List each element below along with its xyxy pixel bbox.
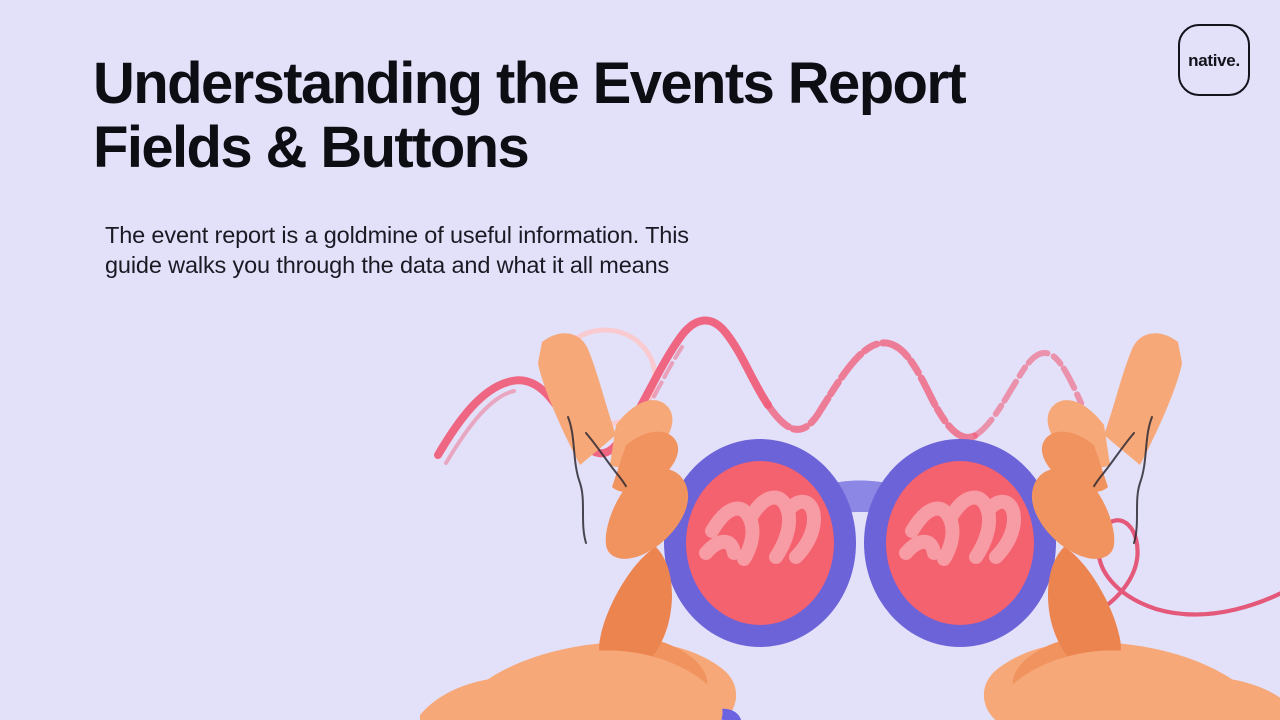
subtitle-block: The event report is a goldmine of useful… — [105, 220, 865, 280]
pink-ribbon-loop — [1088, 520, 1280, 617]
native-logo-text: native. — [1188, 52, 1240, 69]
page-subtitle: The event report is a goldmine of useful… — [105, 220, 865, 280]
hero-illustration — [420, 295, 1280, 720]
native-logo-badge[interactable]: native. — [1178, 24, 1250, 96]
page-title: Understanding the Events Report Fields &… — [93, 52, 1053, 180]
slide-root: native. Understanding the Events Report … — [0, 0, 1280, 720]
title-block: Understanding the Events Report Fields &… — [93, 52, 1053, 180]
binoculars — [664, 439, 1056, 647]
binocular-left-lens — [664, 439, 856, 647]
binocular-right-lens — [864, 439, 1056, 647]
